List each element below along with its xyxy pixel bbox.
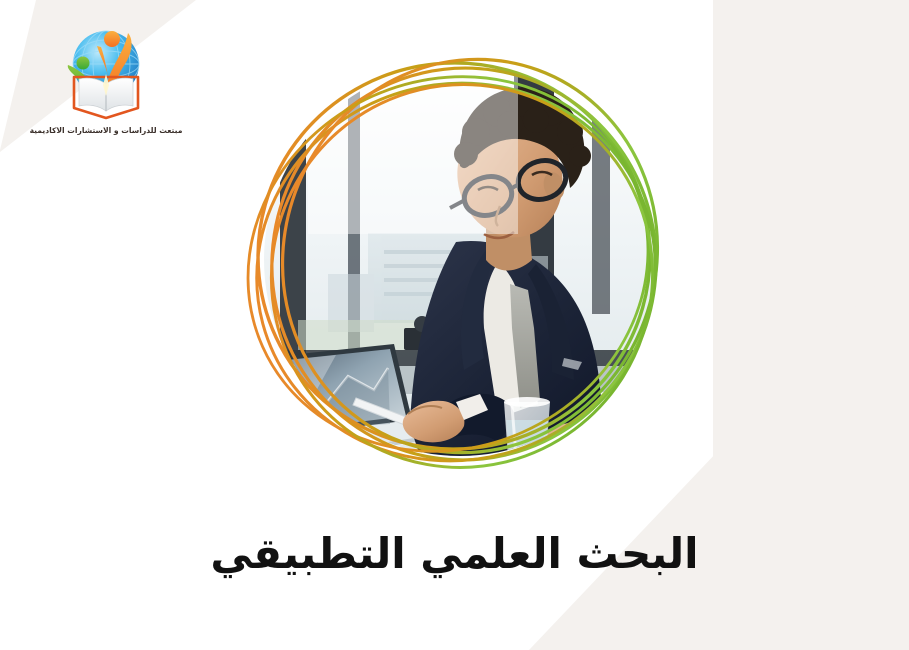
cover-title-block: البحث العلمي التطبيقي <box>0 528 909 581</box>
globe-book-figures-icon <box>54 22 158 122</box>
logo-caption: مبتعث للدراسات و الاستشارات الاكاديمية <box>26 126 186 135</box>
hero-artwork-svg <box>198 28 718 506</box>
hero-circular-photo <box>198 28 718 506</box>
brand-logo: مبتعث للدراسات و الاستشارات الاكاديمية <box>26 22 186 135</box>
cover-page: مبتعث للدراسات و الاستشارات الاكاديمية <box>0 0 909 650</box>
page-title: البحث العلمي التطبيقي <box>210 528 698 581</box>
